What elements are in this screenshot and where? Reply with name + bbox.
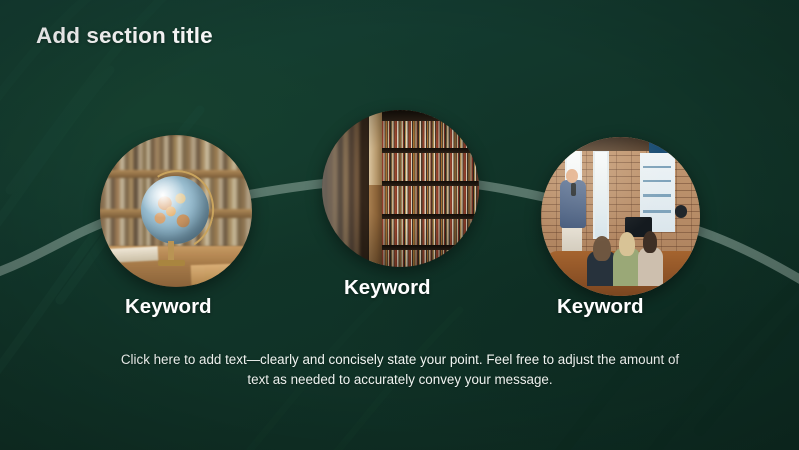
presentation-slide: Add section title Keyword xyxy=(0,0,799,450)
slide-vignette xyxy=(0,0,799,450)
